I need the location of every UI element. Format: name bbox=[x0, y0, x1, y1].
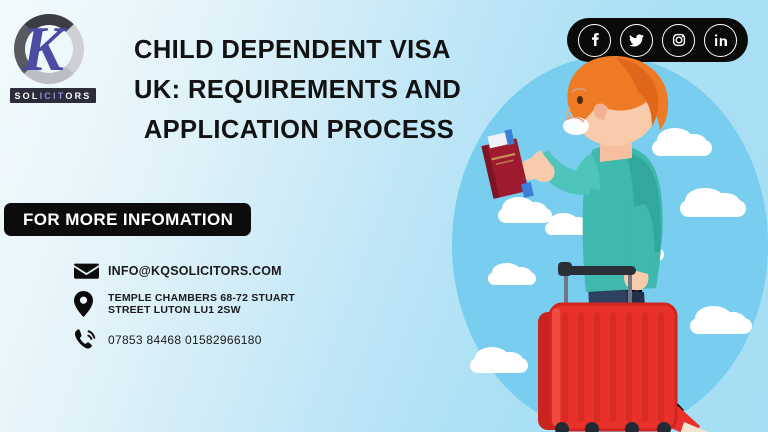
address-value: TEMPLE CHAMBERS 68-72 STUART STREET LUTO… bbox=[108, 292, 295, 317]
envelope-icon bbox=[74, 262, 108, 280]
page-title: CHILD DEPENDENT VISA UK: REQUIREMENTS AN… bbox=[134, 30, 464, 150]
logo-wordmark-suffix: ORS bbox=[65, 91, 91, 101]
linkedin-icon[interactable] bbox=[704, 24, 737, 57]
location-pin-icon bbox=[74, 291, 108, 317]
promo-banner: K SOLICITORS CHILD DEPENDENT VISA UK: RE… bbox=[0, 0, 768, 432]
logo-wordmark-prefix: SOL bbox=[14, 91, 39, 101]
phone-value: 07853 84468 01582966180 bbox=[108, 333, 262, 347]
logo-monogram: K bbox=[22, 18, 60, 81]
traveller-illustration bbox=[440, 54, 768, 432]
logo-wordmark: SOLICITORS bbox=[10, 88, 96, 103]
kq-solicitors-logo[interactable]: K SOLICITORS bbox=[8, 12, 100, 104]
for-more-information-badge: FOR MORE INFOMATION bbox=[4, 203, 251, 236]
address-line-2: STREET LUTON LU1 2SW bbox=[108, 304, 295, 317]
email-value: INFO@KQSOLICITORS.COM bbox=[108, 264, 282, 278]
headline-line-1: CHILD DEPENDENT VISA bbox=[134, 30, 464, 70]
contact-row-phone[interactable]: 07853 84468 01582966180 bbox=[74, 328, 404, 351]
headline-line-3: APPLICATION PROCESS bbox=[134, 110, 464, 150]
instagram-icon[interactable] bbox=[662, 24, 695, 57]
facebook-icon[interactable] bbox=[578, 24, 611, 57]
address-line-1: TEMPLE CHAMBERS 68-72 STUART bbox=[108, 292, 295, 305]
headline-line-2: UK: REQUIREMENTS AND bbox=[134, 70, 464, 110]
contact-row-email[interactable]: INFO@KQSOLICITORS.COM bbox=[74, 262, 404, 280]
logo-wordmark-highlight: ICIT bbox=[40, 91, 66, 101]
phone-icon bbox=[74, 328, 108, 351]
contact-details: INFO@KQSOLICITORS.COM TEMPLE CHAMBERS 68… bbox=[74, 262, 404, 362]
contact-row-address[interactable]: TEMPLE CHAMBERS 68-72 STUART STREET LUTO… bbox=[74, 291, 404, 317]
twitter-icon[interactable] bbox=[620, 24, 653, 57]
